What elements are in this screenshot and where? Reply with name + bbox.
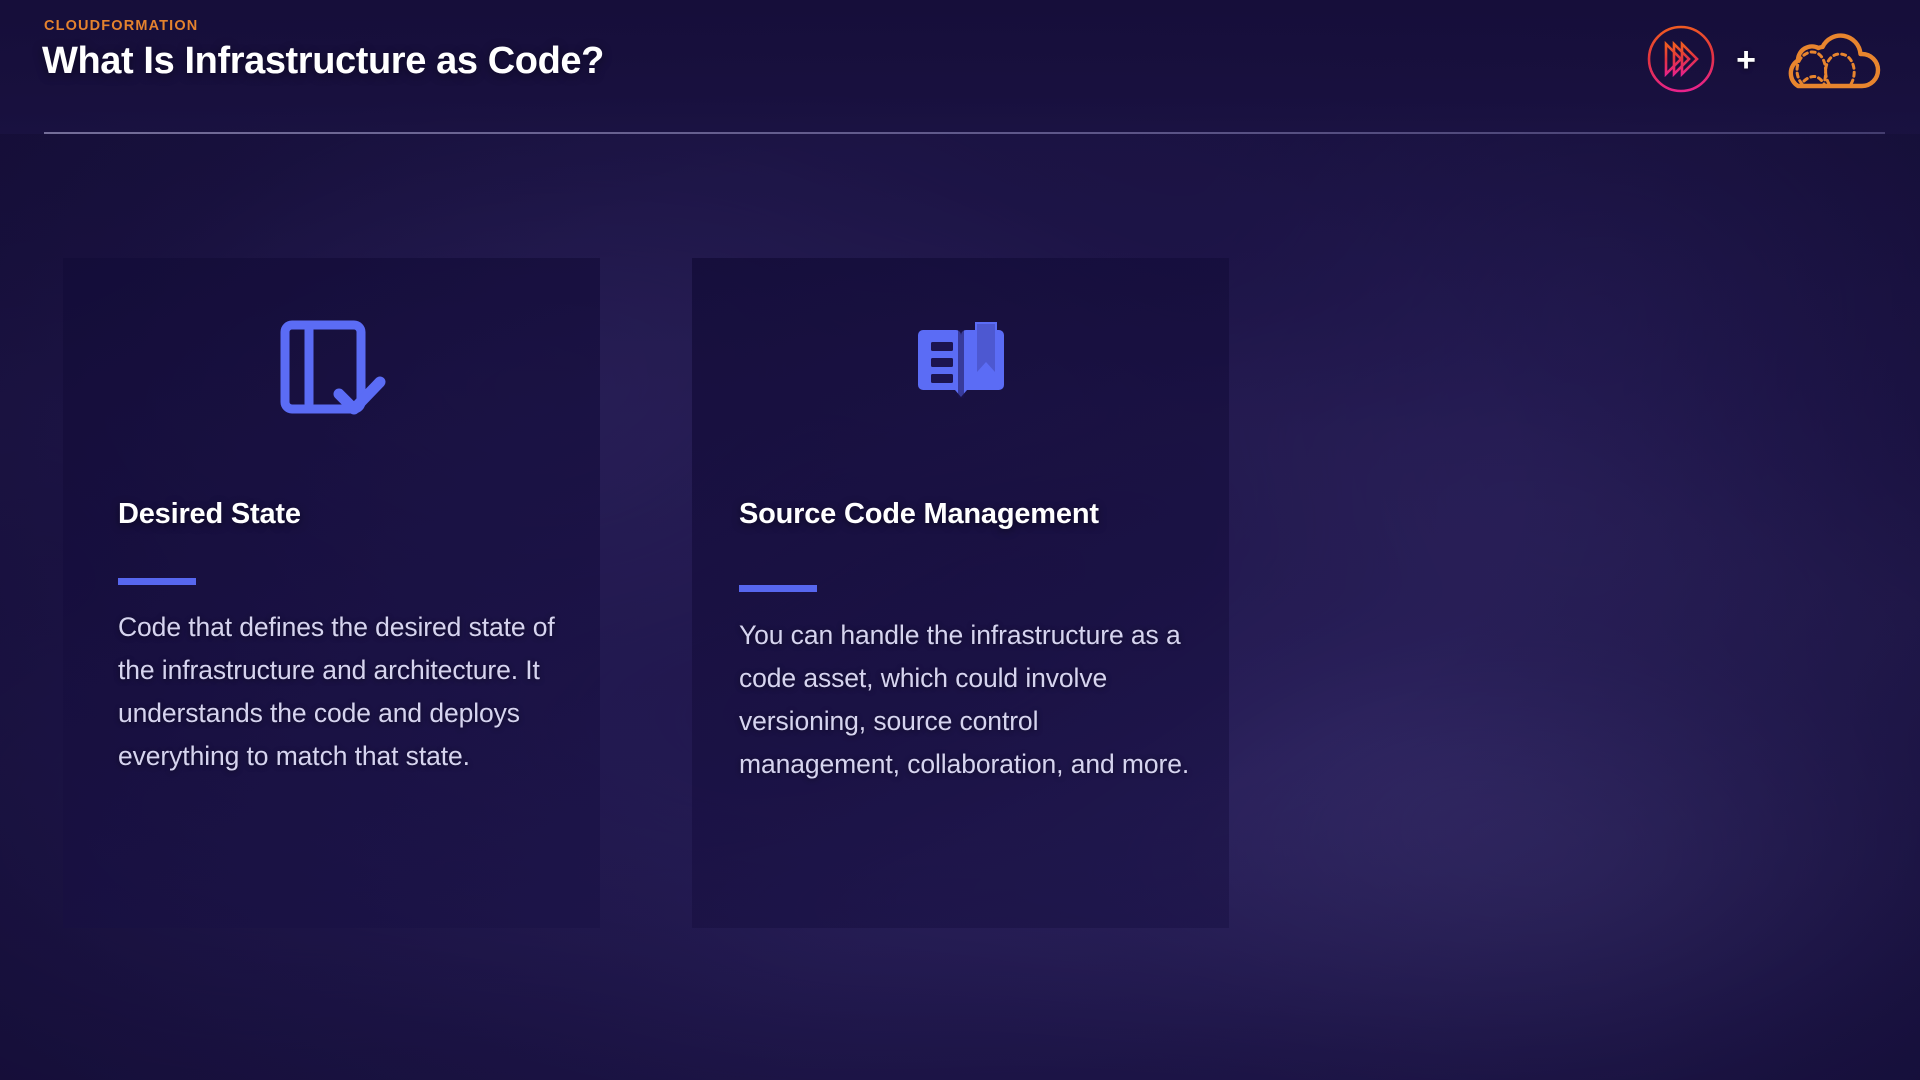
- play-circle-logo: [1644, 22, 1718, 96]
- slide-header: CLOUDFORMATION What Is Infrastructure as…: [0, 0, 1920, 134]
- card-icon-wrap: [692, 316, 1229, 416]
- cloud-outline-logo: [1774, 24, 1882, 94]
- document-check-icon: [276, 316, 388, 420]
- slide-root: CLOUDFORMATION What Is Infrastructure as…: [0, 0, 1920, 1080]
- page-title: What Is Infrastructure as Code?: [42, 40, 604, 83]
- logo-plus-separator: +: [1736, 43, 1756, 77]
- card-body-text: Code that defines the desired state of t…: [118, 606, 558, 778]
- header-eyebrow-label: CLOUDFORMATION: [44, 18, 198, 34]
- card-body-text: You can handle the infrastructure as a c…: [739, 614, 1199, 786]
- header-divider: [44, 132, 1885, 134]
- card-title: Source Code Management: [739, 498, 1199, 531]
- card-icon-wrap: [63, 316, 600, 420]
- content-card: Source Code Management You can handle th…: [692, 258, 1229, 928]
- content-card: Desired State Code that defines the desi…: [63, 258, 600, 928]
- card-accent-bar: [739, 585, 817, 592]
- brand-logo-group: +: [1644, 22, 1882, 96]
- card-title: Desired State: [118, 498, 570, 531]
- open-book-bookmark-icon: [911, 316, 1011, 416]
- card-accent-bar: [118, 578, 196, 585]
